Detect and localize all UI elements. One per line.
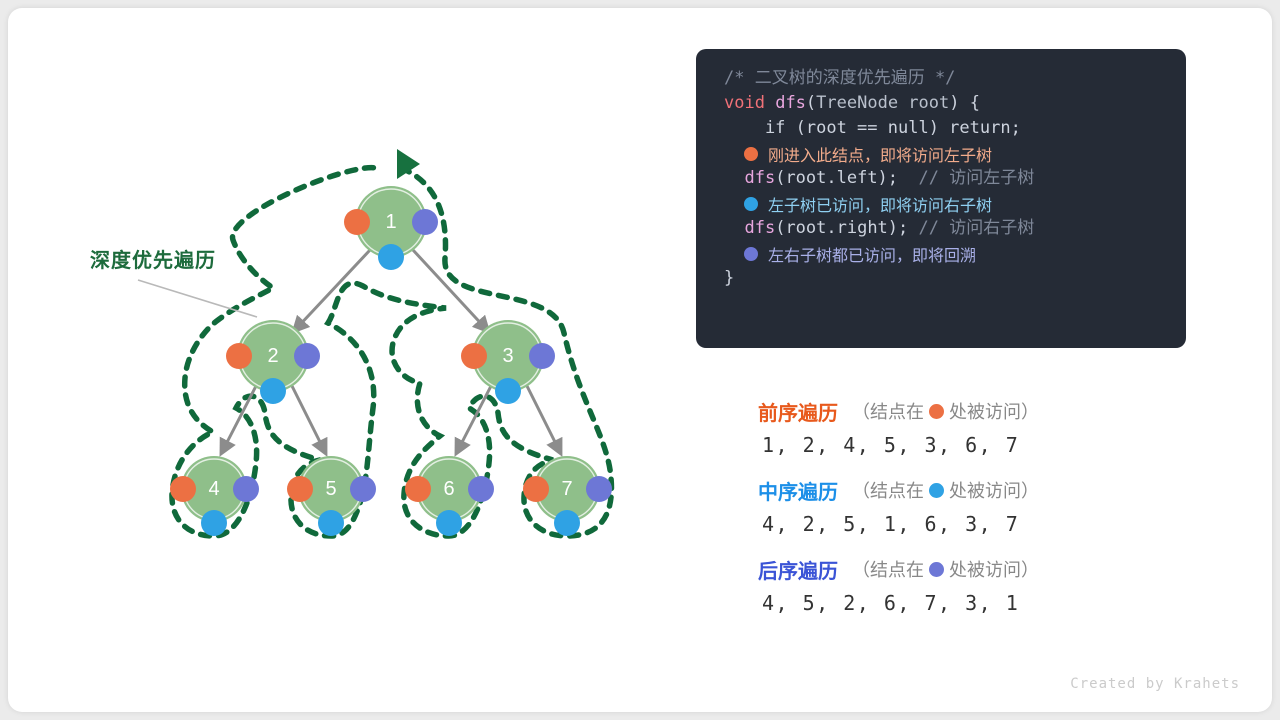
edge-3-6 — [457, 386, 491, 452]
code-line-comment: /* 二叉树的深度优先遍历 */ — [696, 66, 1186, 91]
code-block: /* 二叉树的深度优先遍历 */ void dfs(TreeNode root)… — [696, 49, 1186, 348]
code-note-preorder: 刚进入此结点，即将访问左子树 — [696, 141, 1186, 166]
inorder-dot-icon — [744, 197, 758, 211]
result-group-preorder: 前序遍历 （结点在处被访问） 1, 2, 4, 5, 3, 6, 7 — [758, 394, 1188, 462]
node-6-pre-dot — [405, 476, 431, 502]
traversal-results: 前序遍历 （结点在处被访问） 1, 2, 4, 5, 3, 6, 7 中序遍历 … — [758, 394, 1188, 631]
code-token-right-comment: // 访问右子树 — [919, 218, 1035, 238]
node-7-label: 7 — [561, 478, 572, 500]
node-1-pre-dot — [344, 209, 370, 235]
result-group-postorder: 后序遍历 （结点在处被访问） 4, 5, 2, 6, 7, 3, 1 — [758, 552, 1188, 620]
postorder-heading: 后序遍历 （结点在处被访问） — [758, 552, 1188, 586]
postorder-legend-dot-icon — [929, 562, 944, 577]
code-token-right-args: (root.right); — [775, 218, 918, 238]
code-token-paren-open: ( — [806, 93, 816, 113]
node-4-in-dot — [201, 510, 227, 536]
node-5-pre-dot — [287, 476, 313, 502]
node-4-label: 4 — [208, 478, 219, 500]
inorder-note-close: 处被访问） — [949, 477, 1039, 503]
code-note-postorder-text: 左右子树都已访问，即将回溯 — [768, 242, 976, 266]
node-7-post-dot — [586, 476, 612, 502]
node-5-label: 5 — [325, 478, 336, 500]
inorder-sequence: 4, 2, 5, 1, 6, 3, 7 — [758, 507, 1188, 541]
node-6-label: 6 — [443, 478, 454, 500]
preorder-note: （结点在处被访问） — [852, 398, 1039, 424]
code-line-nullcheck: if (root == null) return; — [696, 116, 1186, 141]
preorder-heading: 前序遍历 （结点在处被访问） — [758, 394, 1188, 428]
node-7-in-dot — [554, 510, 580, 536]
code-note-inorder: 左子树已访问，即将访问右子树 — [696, 191, 1186, 216]
code-token-indent-right — [724, 218, 744, 238]
node-2-in-dot — [260, 378, 286, 404]
node-1-label: 1 — [385, 211, 396, 233]
preorder-sequence: 1, 2, 4, 5, 3, 6, 7 — [758, 428, 1188, 462]
code-note-postorder: 左右子树都已访问，即将回溯 — [696, 241, 1186, 266]
code-token-void: void — [724, 93, 765, 113]
tree-node-2[interactable]: 2 — [226, 320, 320, 404]
node-3-post-dot — [529, 343, 555, 369]
node-3-pre-dot — [461, 343, 487, 369]
node-4-post-dot — [233, 476, 259, 502]
postorder-sequence: 4, 5, 2, 6, 7, 3, 1 — [758, 586, 1188, 620]
node-7-pre-dot — [523, 476, 549, 502]
node-3-label: 3 — [502, 345, 513, 367]
postorder-note-open: （结点在 — [852, 556, 924, 582]
code-token-brace-open: ) { — [949, 93, 980, 113]
code-token-dfs: dfs — [775, 93, 806, 113]
postorder-dot-icon — [744, 247, 758, 261]
code-line-signature: void dfs(TreeNode root) { — [696, 91, 1186, 116]
edge-1-3 — [413, 250, 487, 330]
node-2-label: 2 — [267, 345, 278, 367]
code-note-preorder-text: 刚进入此结点，即将访问左子树 — [768, 142, 992, 166]
node-4-pre-dot — [170, 476, 196, 502]
code-line-brace-close: } — [696, 266, 1186, 291]
tree-node-1[interactable]: 1 — [344, 186, 438, 270]
node-6-post-dot — [468, 476, 494, 502]
node-5-post-dot — [350, 476, 376, 502]
code-line-dfs-left: dfs(root.left); // 访问左子树 — [696, 166, 1186, 191]
inorder-note: （结点在处被访问） — [852, 477, 1039, 503]
edge-2-5 — [292, 386, 325, 452]
code-token-nullcheck: if (root == null) return; — [724, 118, 1021, 138]
code-token-brace-close: } — [724, 268, 734, 288]
credit-text: Created by Krahets — [8, 676, 1240, 692]
inorder-legend-dot-icon — [929, 483, 944, 498]
node-5-in-dot — [318, 510, 344, 536]
inorder-heading: 中序遍历 （结点在处被访问） — [758, 473, 1188, 507]
inorder-title: 中序遍历 — [758, 476, 838, 505]
postorder-note-close: 处被访问） — [949, 556, 1039, 582]
code-token-left-args: (root.left); — [775, 168, 918, 188]
preorder-dot-icon — [744, 147, 758, 161]
result-group-inorder: 中序遍历 （结点在处被访问） 4, 2, 5, 1, 6, 3, 7 — [758, 473, 1188, 541]
tree-svg: 1 2 3 — [8, 8, 678, 712]
edge-3-7 — [527, 386, 560, 452]
tree-nodes: 1 2 3 — [170, 186, 612, 536]
code-token-dfs-left: dfs — [744, 168, 775, 188]
node-6-in-dot — [436, 510, 462, 536]
diagram-card: 1 2 3 — [8, 8, 1272, 712]
node-3-in-dot — [495, 378, 521, 404]
preorder-legend-dot-icon — [929, 404, 944, 419]
preorder-note-close: 处被访问） — [949, 398, 1039, 424]
node-2-post-dot — [294, 343, 320, 369]
postorder-title: 后序遍历 — [758, 555, 838, 584]
node-1-in-dot — [378, 244, 404, 270]
preorder-title: 前序遍历 — [758, 397, 838, 426]
code-line-dfs-right: dfs(root.right); // 访问右子树 — [696, 216, 1186, 241]
code-token-comment: /* 二叉树的深度优先遍历 */ — [724, 68, 955, 88]
code-token-param: TreeNode root — [816, 93, 949, 113]
code-token-dfs-right: dfs — [744, 218, 775, 238]
tree-node-3[interactable]: 3 — [461, 320, 555, 404]
annotation-leader-line — [138, 280, 257, 317]
code-token-space1 — [765, 93, 775, 113]
inorder-note-open: （结点在 — [852, 477, 924, 503]
code-token-indent-left — [724, 168, 744, 188]
code-note-inorder-text: 左子树已访问，即将访问右子树 — [768, 192, 992, 216]
code-token-left-comment: // 访问左子树 — [919, 168, 1035, 188]
postorder-note: （结点在处被访问） — [852, 556, 1039, 582]
binary-tree-diagram: 1 2 3 — [8, 8, 678, 712]
dfs-annotation-label: 深度优先遍历 — [90, 244, 216, 273]
node-1-post-dot — [412, 209, 438, 235]
node-2-pre-dot — [226, 343, 252, 369]
preorder-note-open: （结点在 — [852, 398, 924, 424]
